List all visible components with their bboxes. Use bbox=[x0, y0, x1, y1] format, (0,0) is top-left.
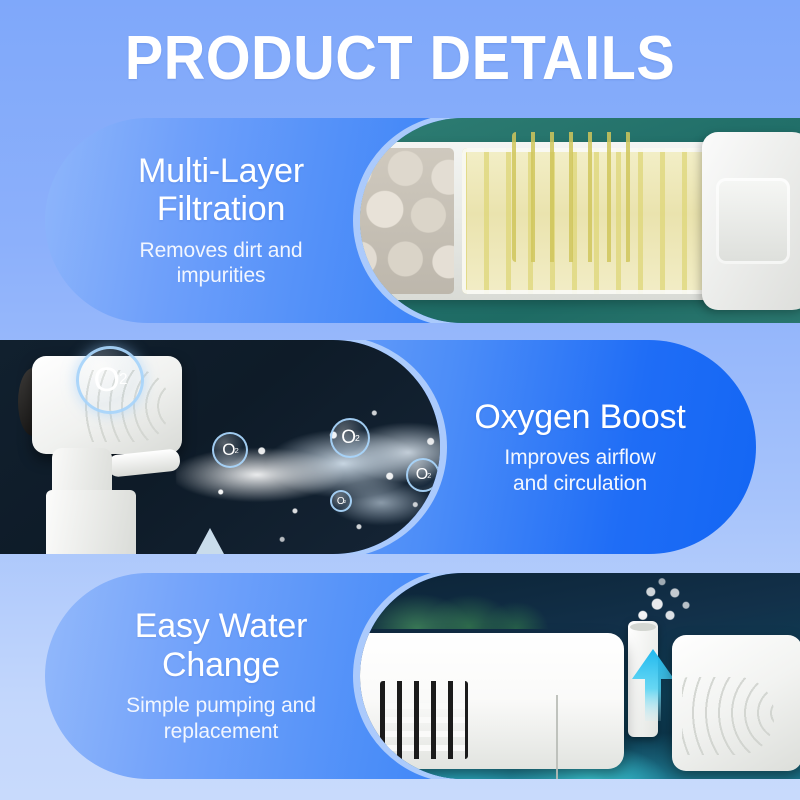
feature-title-line-2: Filtration bbox=[157, 190, 285, 228]
feature-title-line-2: Change bbox=[162, 646, 280, 684]
feature-photo-water-change bbox=[360, 573, 800, 779]
sponge-ribs bbox=[512, 132, 632, 262]
feature-text-block: Easy Water Change Simple pumping and rep… bbox=[45, 573, 375, 779]
photo-clip: O2 O2 O2 O2 O2 bbox=[0, 340, 440, 554]
pump-motor-housing bbox=[672, 635, 800, 771]
water-droplets bbox=[190, 394, 440, 552]
o2-bubble-icon: O2 bbox=[330, 490, 352, 512]
feature-subtitle-line-2: replacement bbox=[164, 720, 278, 743]
poster-header: PRODUCT DETAILS bbox=[0, 0, 800, 118]
feature-subtitle-line-1: Removes dirt and bbox=[140, 239, 303, 262]
o2-bubble-icon: O2 bbox=[330, 418, 370, 458]
feature-panel-multi-layer-filtration: Multi-Layer Filtration Removes dirt and … bbox=[45, 118, 800, 323]
feature-subtitle: Removes dirt and impurities bbox=[140, 238, 303, 289]
feature-text-block: Oxygen Boost Improves airflow and circul… bbox=[426, 340, 756, 554]
feature-subtitle: Simple pumping and replacement bbox=[126, 693, 316, 744]
pump-body bbox=[360, 633, 624, 769]
decor-cone bbox=[196, 528, 224, 554]
intake-slots bbox=[380, 681, 468, 759]
feature-subtitle: Improves airflow and circulation bbox=[504, 445, 655, 496]
feature-subtitle-line-1: Improves airflow bbox=[504, 446, 655, 469]
photo-clip bbox=[360, 118, 800, 323]
o2-bubble-icon: O2 bbox=[212, 432, 248, 468]
o2-bubble-icon: O2 bbox=[76, 346, 144, 414]
reef-decor bbox=[360, 573, 620, 629]
product-details-poster: PRODUCT DETAILS Multi-Layer Filtration R… bbox=[0, 0, 800, 800]
feature-title: Multi-Layer Filtration bbox=[138, 152, 304, 229]
pump-stem bbox=[52, 448, 112, 496]
photo-clip bbox=[360, 573, 800, 779]
feature-title-line-1: Oxygen Boost bbox=[474, 398, 685, 436]
pump-base bbox=[46, 490, 136, 554]
feature-subtitle-line-1: Simple pumping and bbox=[126, 694, 316, 717]
pump-seam bbox=[556, 695, 558, 779]
feature-text-block: Multi-Layer Filtration Removes dirt and … bbox=[45, 118, 375, 323]
feature-title: Oxygen Boost bbox=[474, 398, 685, 436]
feature-subtitle-line-2: and circulation bbox=[513, 472, 647, 495]
feature-photo-filtration bbox=[360, 118, 800, 323]
feature-panel-easy-water-change: Easy Water Change Simple pumping and rep… bbox=[45, 573, 800, 779]
up-arrow-icon bbox=[632, 649, 674, 721]
page-title: PRODUCT DETAILS bbox=[125, 28, 675, 90]
feature-subtitle-line-2: impurities bbox=[177, 264, 266, 287]
pump-housing bbox=[702, 132, 800, 310]
feature-title: Easy Water Change bbox=[135, 607, 307, 684]
feature-photo-oxygen: O2 O2 O2 O2 O2 bbox=[0, 340, 440, 554]
feature-title-line-1: Easy Water bbox=[135, 607, 307, 645]
feature-panel-oxygen-boost: O2 O2 O2 O2 O2 Oxygen Boost Improves air… bbox=[0, 340, 756, 554]
feature-title-line-1: Multi-Layer bbox=[138, 152, 304, 190]
